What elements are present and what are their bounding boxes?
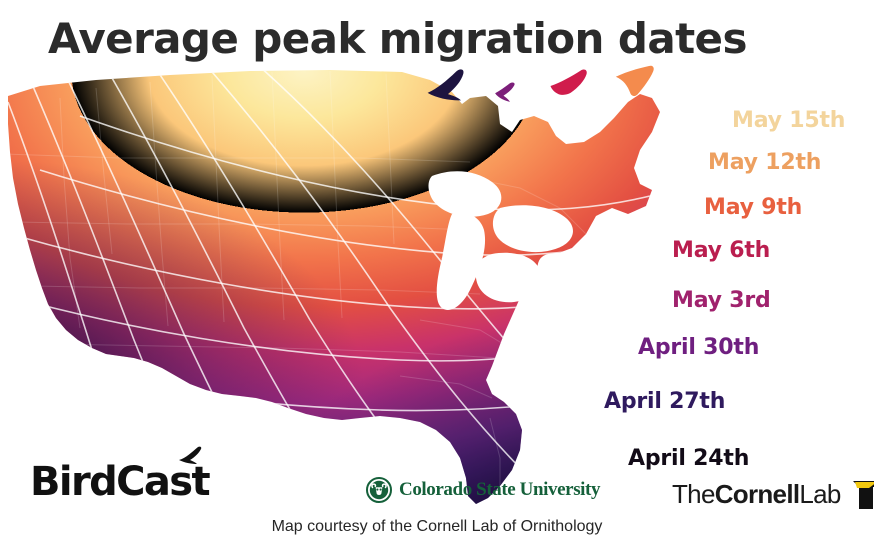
contour-label-6: April 30th: [638, 335, 759, 360]
contour-label-4: May 6th: [672, 238, 770, 263]
birdcast-bird-icon: [178, 446, 212, 466]
cornell-lab-logo[interactable]: TheCornellLab: [672, 475, 874, 513]
birdcast-wordmark: BirdCast: [30, 462, 209, 502]
contour-label-7: April 27th: [604, 389, 725, 414]
caption: Map courtesy of the Cornell Lab of Ornit…: [0, 518, 874, 536]
page-title: Average peak migration dates: [48, 17, 747, 61]
csu-ram-icon: [366, 477, 392, 503]
poster-canvas: Average peak migration dates: [0, 0, 874, 551]
colorado-state-university-logo[interactable]: Colorado State University: [366, 477, 600, 503]
bird-silhouette-3: [545, 68, 594, 103]
cornell-lab: Lab: [799, 479, 840, 509]
contour-label-8: April 24th: [628, 446, 749, 471]
contour-label-3: May 9th: [704, 195, 802, 220]
cornell-lab-wordmark: TheCornellLab: [672, 479, 841, 510]
contour-label-1: May 15th: [732, 108, 845, 133]
bird-silhouette-4: [613, 65, 659, 100]
cornell-the: The: [672, 479, 715, 509]
cornell-woodpecker-icon: [843, 475, 874, 513]
csu-wordmark: Colorado State University: [399, 479, 600, 501]
birdcast-logo[interactable]: BirdCast: [30, 462, 209, 502]
bird-silhouette-2: [491, 78, 530, 110]
cornell-cornell: Cornell: [715, 479, 800, 509]
bird-silhouette-1: [422, 67, 474, 107]
contour-label-2: May 12th: [708, 150, 821, 175]
contour-label-5: May 3rd: [672, 288, 771, 313]
